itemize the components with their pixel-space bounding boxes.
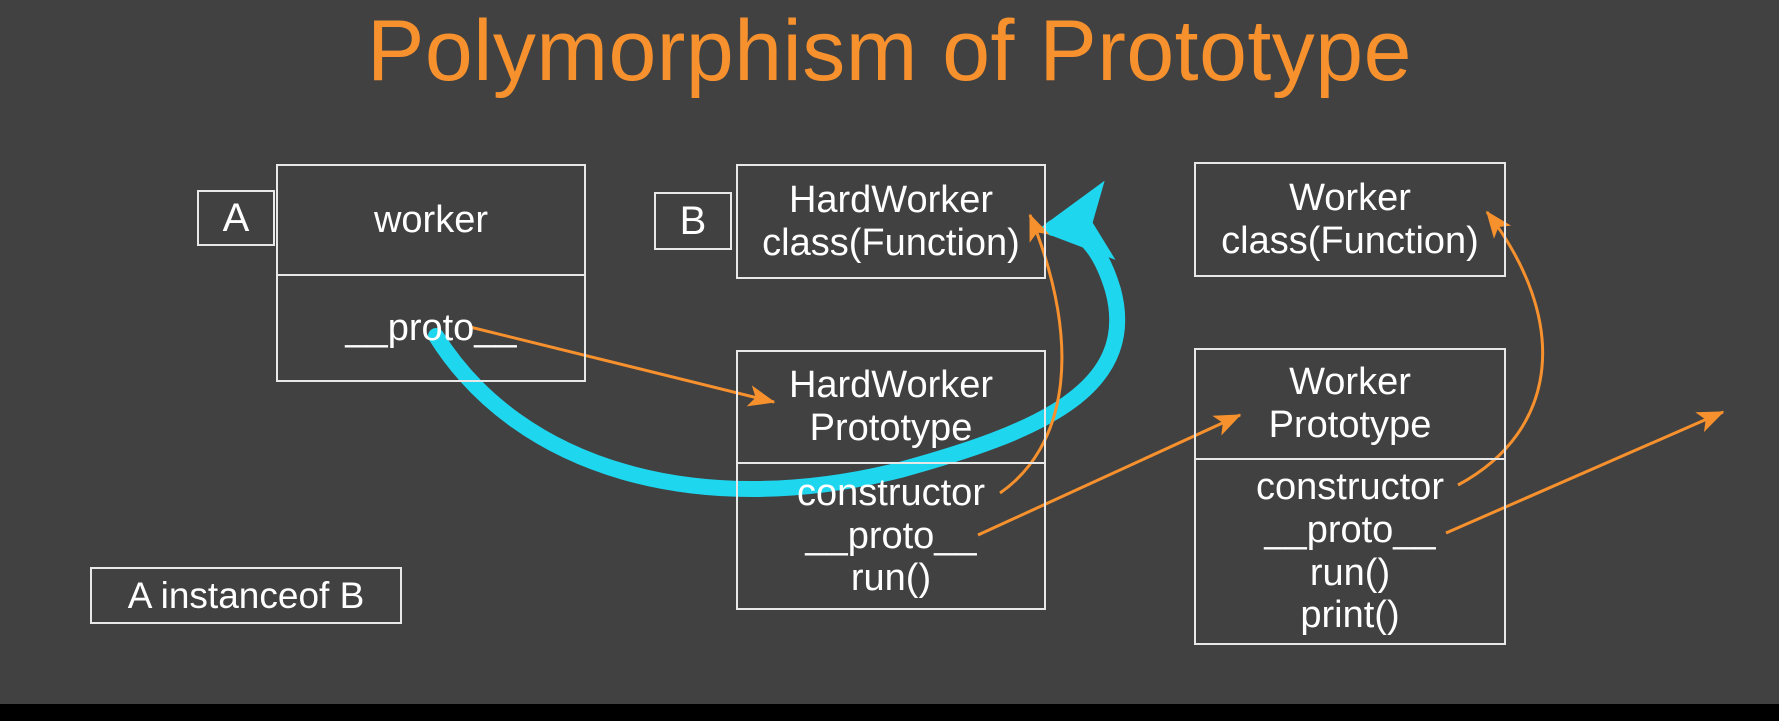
instanceof-note-box: A instanceof B <box>90 567 402 624</box>
hardworker-prototype-member: __proto__ <box>805 515 976 558</box>
worker-instance-header: worker <box>278 166 584 274</box>
worker-instance-members: __proto__ <box>278 274 584 380</box>
worker-prototype-member: __proto__ <box>1264 509 1435 552</box>
worker-instance-name: worker <box>374 199 488 242</box>
worker-instance-proto: __proto__ <box>345 307 516 350</box>
worker-class-line1: Worker <box>1289 177 1411 220</box>
page-title: Polymorphism of Prototype <box>0 0 1779 106</box>
tag-box-a: A <box>197 190 275 246</box>
worker-prototype-header: Worker Prototype <box>1196 350 1504 458</box>
hardworker-class-header: HardWorker class(Function) <box>738 166 1044 277</box>
worker-prototype-box: Worker Prototype constructor __proto__ r… <box>1194 348 1506 645</box>
worker-prototype-line1: Worker <box>1289 361 1411 404</box>
worker-prototype-member: constructor <box>1256 466 1444 509</box>
worker-class-header: Worker class(Function) <box>1196 164 1504 275</box>
instanceof-note-label: A instanceof B <box>128 575 365 617</box>
hardworker-prototype-line2: Prototype <box>810 407 973 450</box>
hardworker-prototype-box: HardWorker Prototype constructor __proto… <box>736 350 1046 610</box>
worker-class-box: Worker class(Function) <box>1194 162 1506 277</box>
worker-prototype-members: constructor __proto__ run() print() <box>1196 458 1504 643</box>
tag-box-b: B <box>654 192 732 250</box>
worker-prototype-member: run() <box>1310 552 1390 595</box>
hardworker-prototype-line1: HardWorker <box>789 364 993 407</box>
hardworker-prototype-member: run() <box>851 557 931 600</box>
tag-b-label: B <box>680 199 707 244</box>
hardworker-prototype-header: HardWorker Prototype <box>738 352 1044 462</box>
worker-prototype-line2: Prototype <box>1269 404 1432 447</box>
worker-class-line2: class(Function) <box>1221 220 1479 263</box>
hardworker-class-box: HardWorker class(Function) <box>736 164 1046 279</box>
worker-instance-box: worker __proto__ <box>276 164 586 382</box>
worker-prototype-member: print() <box>1300 594 1399 637</box>
slide-canvas: Polymorphism of Prototype A B <box>0 0 1779 721</box>
bottom-black-bar <box>0 704 1779 721</box>
hardworker-prototype-member: constructor <box>797 472 985 515</box>
hardworker-prototype-members: constructor __proto__ run() <box>738 462 1044 608</box>
hardworker-class-line1: HardWorker <box>789 179 993 222</box>
tag-a-label: A <box>223 196 250 241</box>
hardworker-class-line2: class(Function) <box>762 222 1020 265</box>
